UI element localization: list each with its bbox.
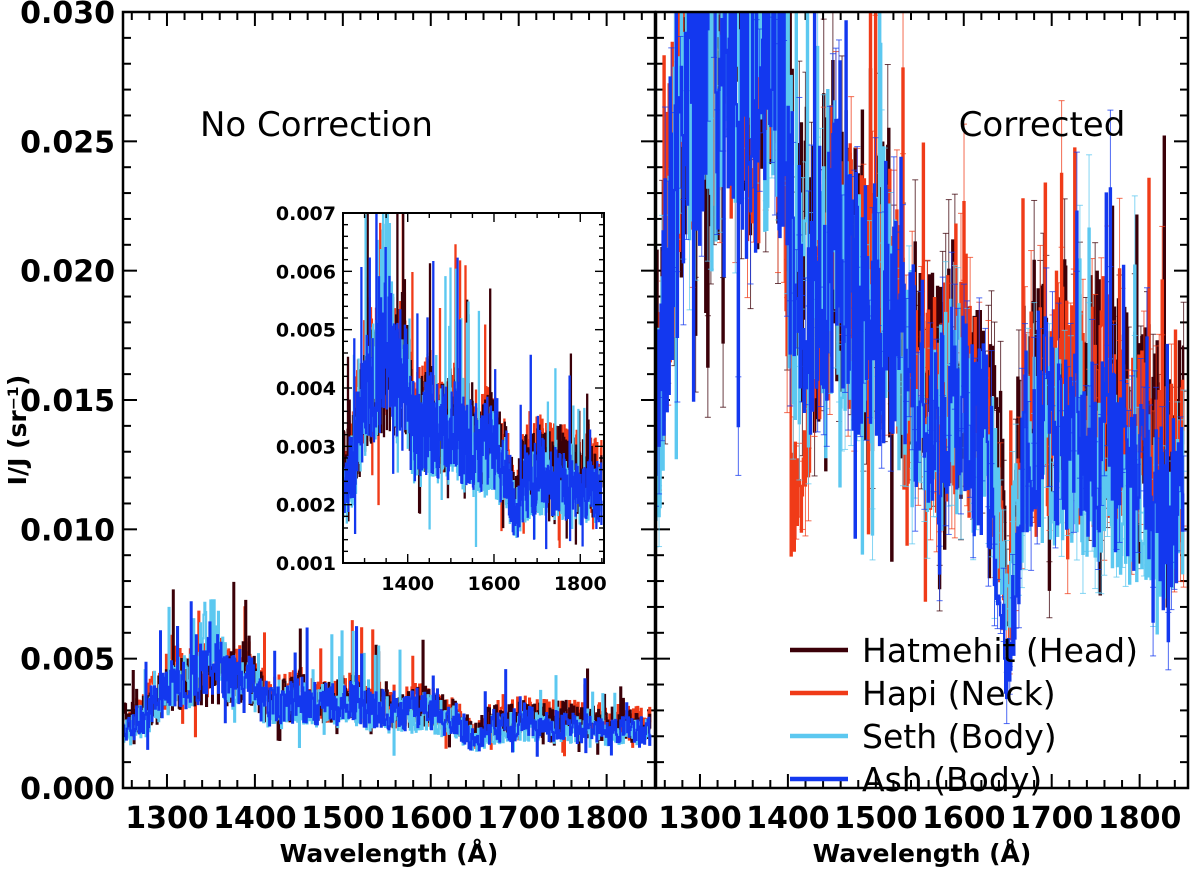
x-tick-label: 1700 <box>477 801 561 836</box>
x-tick-label: 1500 <box>834 801 918 836</box>
x-tick-label: 1300 <box>125 801 209 836</box>
inset-y-tick-label: 0.001 <box>276 553 336 575</box>
inset-y-tick-label: 0.005 <box>276 320 336 342</box>
right-x-axis-label: Wavelength (Å) <box>813 839 1032 868</box>
x-tick-label: 1300 <box>658 801 742 836</box>
y-tick-label: 0.005 <box>20 643 115 678</box>
inset-y-tick-label: 0.006 <box>276 261 336 283</box>
inset-y-tick-label: 0.004 <box>276 378 336 400</box>
x-tick-label: 1800 <box>565 801 649 836</box>
inset-y-tick-label: 0.002 <box>276 495 336 517</box>
y-tick-label: 0.000 <box>20 772 115 807</box>
x-tick-label: 1600 <box>389 801 473 836</box>
y-tick-label: 0.015 <box>20 384 115 419</box>
y-tick-label: 0.025 <box>20 125 115 160</box>
right-panel-title: Corrected <box>959 105 1126 145</box>
x-tick-label: 1400 <box>746 801 830 836</box>
inset-x-tick-labels: 140016001800 <box>381 573 606 595</box>
x-tick-label: 1400 <box>213 801 297 836</box>
y-tick-label: 0.020 <box>20 255 115 290</box>
legend-label: Seth (Body) <box>862 717 1057 756</box>
figure-root: I/J (sr⁻¹) No Correction 0.0000.0050.010… <box>0 0 1200 869</box>
legend-label: Hapi (Neck) <box>862 674 1056 713</box>
y-tick-label: 0.010 <box>20 513 115 548</box>
x-tick-label: 1600 <box>922 801 1006 836</box>
legend-label: Ash (Body) <box>862 760 1042 799</box>
x-tick-label: 1500 <box>301 801 385 836</box>
x-tick-label: 1800 <box>1098 801 1182 836</box>
inset-x-tick-label: 1400 <box>381 573 434 595</box>
inset-x-tick-label: 1800 <box>554 573 607 595</box>
left-x-axis-label: Wavelength (Å) <box>280 839 499 868</box>
inset-x-tick-label: 1600 <box>468 573 521 595</box>
spectra-figure: I/J (sr⁻¹) No Correction 0.0000.0050.010… <box>0 0 1200 869</box>
y-tick-label: 0.030 <box>20 0 115 31</box>
inset-y-tick-label: 0.003 <box>276 436 336 458</box>
inset-y-tick-label: 0.007 <box>276 203 336 225</box>
left-panel-title: No Correction <box>200 105 433 145</box>
legend-label: Hatmehit (Head) <box>862 631 1138 670</box>
x-tick-label: 1700 <box>1010 801 1094 836</box>
